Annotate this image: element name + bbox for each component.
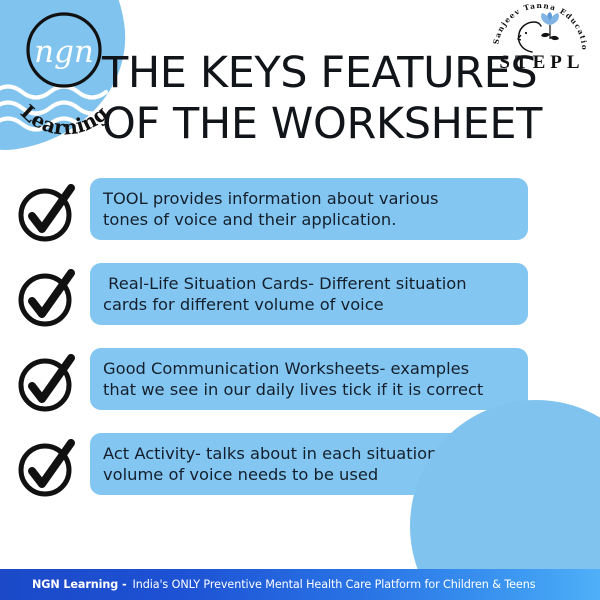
ngn-logo-curved-text: Learning (16, 100, 113, 140)
poster-canvas: ngn Learning Sanjeev Tanna Education (0, 0, 600, 600)
feature-text-line-1: Real-Life Situation Cards- Different sit… (103, 273, 516, 295)
feature-text-line-2: tones of voice and their application. (103, 209, 516, 231)
check-circle-icon (16, 437, 78, 499)
feature-pill: Good Communication Worksheets- examples … (90, 348, 528, 410)
list-item: Real-Life Situation Cards- Different sit… (0, 263, 600, 348)
ngn-logo-mark: ngn (34, 34, 94, 70)
feature-text-line-2: that we see in our daily lives tick if i… (103, 379, 516, 401)
footer-tagline: India's ONLY Preventive Mental Health Ca… (133, 578, 536, 591)
feature-pill: Real-Life Situation Cards- Different sit… (90, 263, 528, 325)
list-item: TOOL provides information about various … (0, 178, 600, 263)
check-circle-icon (16, 182, 78, 244)
feature-text-line-1: Good Communication Worksheets- examples (103, 358, 516, 380)
footer-brand: NGN Learning - (32, 578, 127, 591)
feature-text-line-1: TOOL provides information about various (103, 188, 516, 210)
check-circle-icon (16, 267, 78, 329)
page-title: THE KEYS FEATURES OF THE WORKSHEET (102, 48, 522, 150)
page-title-line-1: THE KEYS FEATURES (102, 48, 522, 99)
page-title-line-2: OF THE WORKSHEET (102, 99, 522, 150)
feature-text-line-2: cards for different volume of voice (103, 294, 516, 316)
footer-bar: NGN Learning - India's ONLY Preventive M… (0, 569, 600, 600)
stepl-curved-text: Sanjeev Tanna Education (488, 4, 589, 51)
check-circle-icon (16, 352, 78, 414)
feature-pill: TOOL provides information about various … (90, 178, 528, 240)
